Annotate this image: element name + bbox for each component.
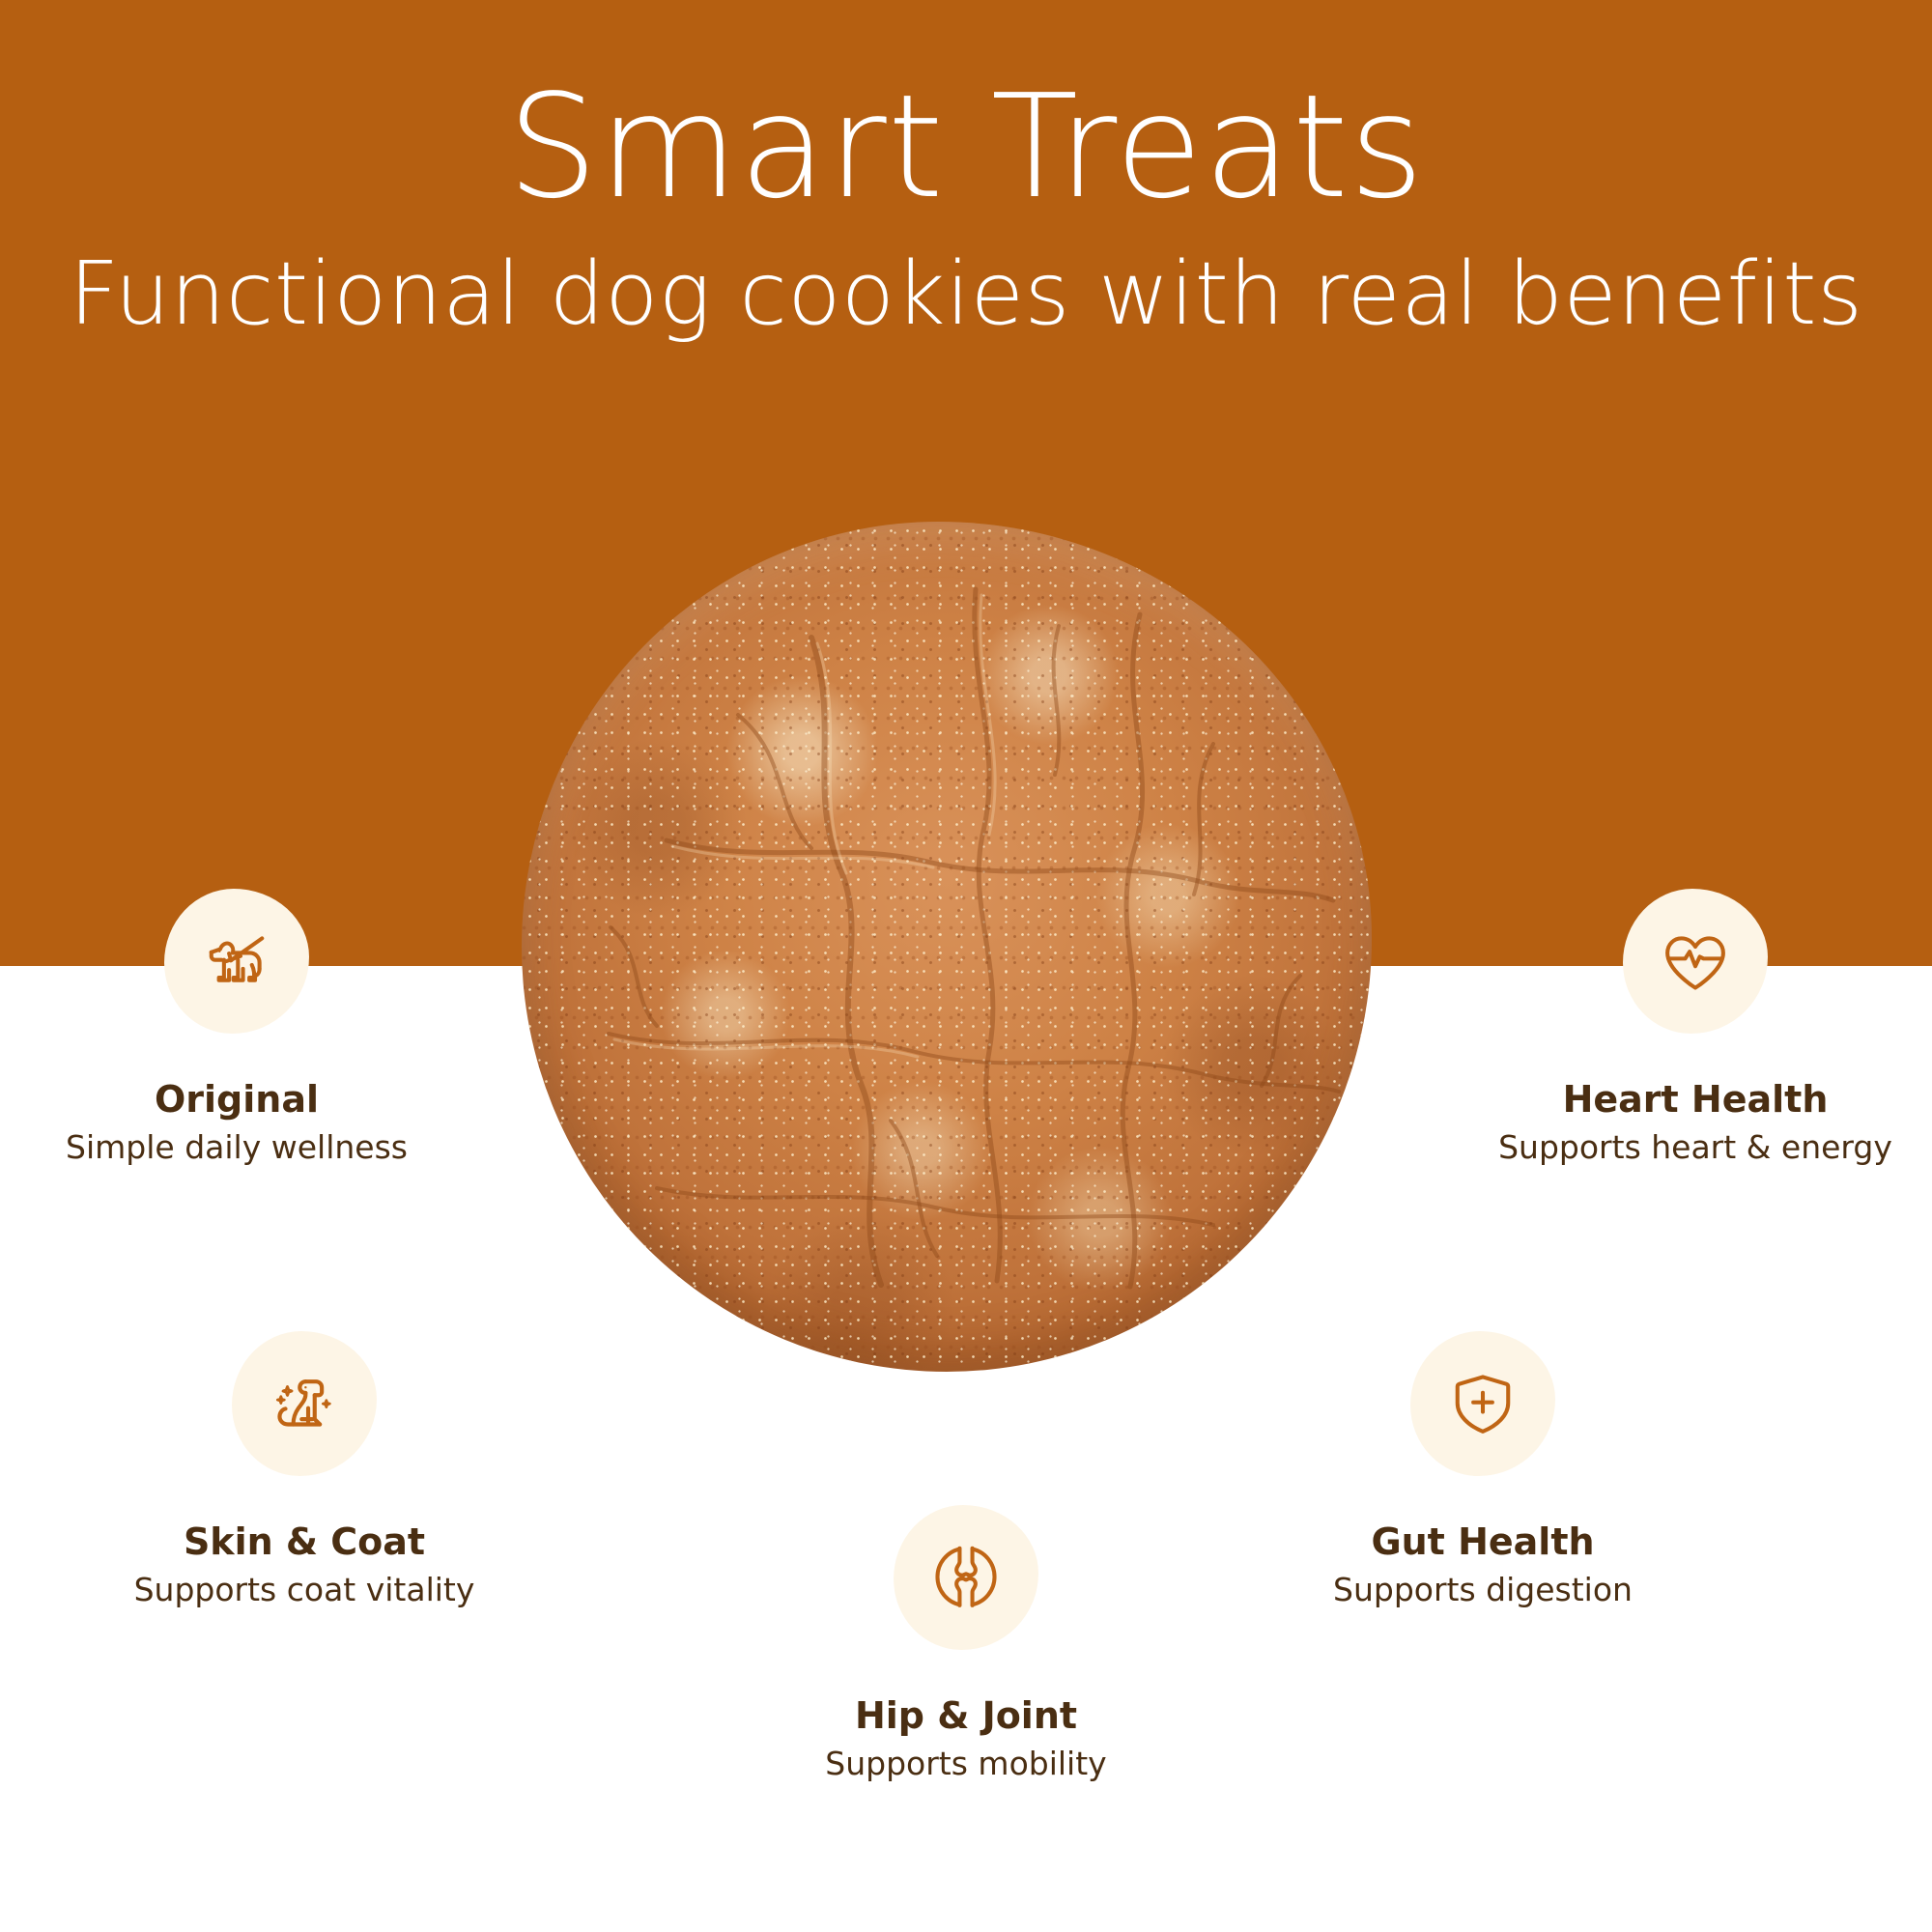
benefit-description: Supports digestion bbox=[1212, 1573, 1753, 1607]
benefit-description: Supports heart & energy bbox=[1425, 1130, 1932, 1165]
dog-on-leash-icon bbox=[196, 921, 277, 1002]
benefit-title: Gut Health bbox=[1212, 1522, 1753, 1563]
benefit-title: Original bbox=[0, 1080, 507, 1121]
cookie-cracks bbox=[522, 522, 1372, 1372]
benefit-title: Skin & Coat bbox=[34, 1522, 575, 1563]
benefit-icon-circle bbox=[164, 889, 309, 1034]
shield-plus-icon bbox=[1442, 1363, 1523, 1444]
sitting-dog-sparkle-icon bbox=[263, 1362, 346, 1445]
benefit-description: Simple daily wellness bbox=[0, 1130, 507, 1165]
benefit-icon-circle bbox=[1623, 889, 1768, 1034]
heart-pulse-icon bbox=[1655, 921, 1736, 1002]
benefit-icon-circle bbox=[232, 1331, 377, 1476]
cookie-body bbox=[522, 522, 1372, 1372]
product-image-cookie bbox=[522, 522, 1372, 1372]
benefit-heart-health[interactable]: Heart Health Supports heart & energy bbox=[1425, 889, 1932, 1165]
benefit-gut-health[interactable]: Gut Health Supports digestion bbox=[1212, 1331, 1753, 1607]
benefit-description: Supports coat vitality bbox=[34, 1573, 575, 1607]
benefit-icon-circle bbox=[1410, 1331, 1555, 1476]
promo-graphic: Smart Treats Functional dog cookies with… bbox=[0, 0, 1932, 1932]
benefit-hip-joint[interactable]: Hip & Joint Supports mobility bbox=[696, 1505, 1236, 1781]
benefit-description: Supports mobility bbox=[696, 1747, 1236, 1781]
benefit-title: Hip & Joint bbox=[696, 1696, 1236, 1737]
benefit-skin-coat[interactable]: Skin & Coat Supports coat vitality bbox=[34, 1331, 575, 1607]
benefit-title: Heart Health bbox=[1425, 1080, 1932, 1121]
benefit-icon-circle bbox=[894, 1505, 1038, 1650]
bone-joint-icon bbox=[925, 1537, 1007, 1618]
benefit-original[interactable]: Original Simple daily wellness bbox=[0, 889, 507, 1165]
